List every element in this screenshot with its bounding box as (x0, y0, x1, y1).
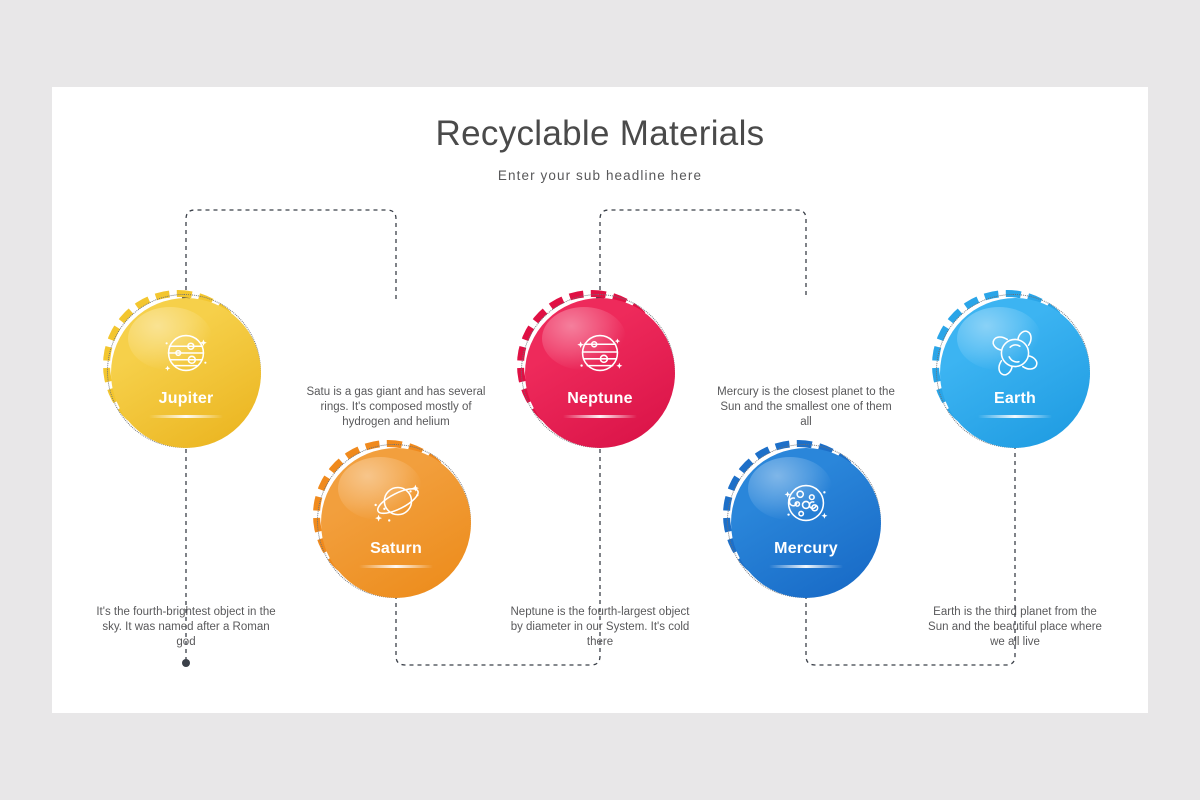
description-mercury: Mercury is the closest planet to the Sun… (715, 385, 897, 431)
label-underline-neptune (563, 415, 637, 418)
description-neptune: Neptune is the fourth-largest object by … (509, 605, 691, 651)
slide-header: Recyclable Materials Enter your sub head… (52, 115, 1148, 183)
planet-label-earth: Earth (994, 390, 1036, 408)
connector-top-left (186, 210, 396, 299)
page-subtitle: Enter your sub headline here (52, 168, 1148, 183)
planet-label-neptune: Neptune (567, 390, 632, 408)
label-underline-mercury (769, 565, 843, 568)
earth-leaves-icon (984, 322, 1046, 384)
planet-label-mercury: Mercury (774, 540, 838, 558)
planet-disc-neptune[interactable]: Neptune (525, 298, 675, 448)
node-mercury[interactable]: Mercury (731, 448, 881, 598)
planet-disc-earth[interactable]: Earth (940, 298, 1090, 448)
planet-disc-jupiter[interactable]: Jupiter (111, 298, 261, 448)
planet-disc-saturn[interactable]: Saturn (321, 448, 471, 598)
planet-label-jupiter: Jupiter (159, 390, 214, 408)
node-jupiter[interactable]: Jupiter (111, 298, 261, 448)
planet-disc-mercury[interactable]: Mercury (731, 448, 881, 598)
label-underline-earth (978, 415, 1052, 418)
description-saturn: Satu is a gas giant and has several ring… (305, 385, 487, 431)
planet-stripes-icon (569, 322, 631, 384)
connector-top-right (600, 210, 806, 299)
label-underline-jupiter (149, 415, 223, 418)
planet-label-saturn: Saturn (370, 540, 422, 558)
slide-canvas: Recyclable Materials Enter your sub head… (52, 87, 1148, 713)
node-neptune[interactable]: Neptune (525, 298, 675, 448)
node-earth[interactable]: Earth (940, 298, 1090, 448)
description-earth: Earth is the third planet from the Sun a… (924, 605, 1106, 651)
description-jupiter: It's the fourth-brightest object in the … (95, 605, 277, 651)
planet-stripes-icon (155, 322, 217, 384)
planet-ring-icon (365, 472, 427, 534)
connector-dot-jupiter-end (182, 659, 190, 667)
page-title: Recyclable Materials (52, 115, 1148, 154)
label-underline-saturn (359, 565, 433, 568)
planet-craters-icon (775, 472, 837, 534)
node-saturn[interactable]: Saturn (321, 448, 471, 598)
